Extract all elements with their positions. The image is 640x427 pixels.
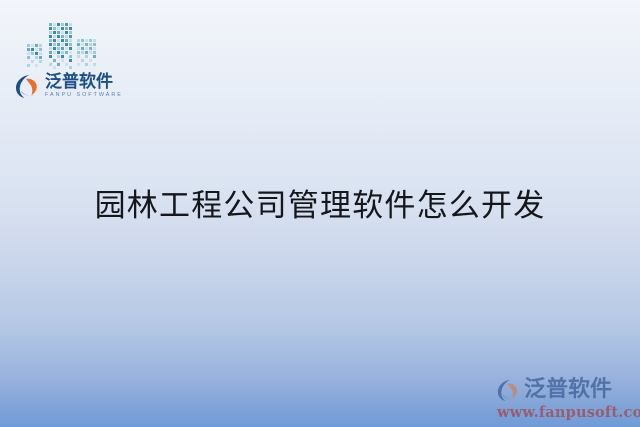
pixel-cityscape-icon [24,11,102,69]
page-title: 园林工程公司管理软件怎么开发 [0,186,640,226]
fanpu-swoosh-logo-icon [14,73,41,100]
watermark-name-cn: 泛普软件 [524,379,612,401]
slide-canvas: 泛普软件 FANPU SOFTWARE 园林工程公司管理软件怎么开发 泛普软件 … [0,0,640,427]
brand-logo: 泛普软件 FANPU SOFTWARE [14,71,123,101]
watermark-logo: 泛普软件 [496,377,636,403]
watermark-url: www.fanpusoft.com [496,404,636,421]
watermark: 泛普软件 www.fanpusoft.com [496,377,636,421]
fanpu-swoosh-logo-icon [496,378,521,403]
brand-wordmark: 泛普软件 FANPU SOFTWARE [45,74,123,98]
brand-name-en: FANPU SOFTWARE [45,93,123,98]
brand-name-cn: 泛普软件 [45,74,123,91]
